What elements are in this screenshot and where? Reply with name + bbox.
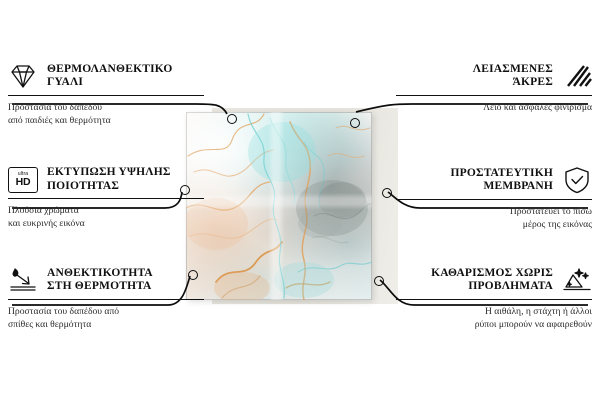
feature-title: ΚΑΘΑΡΙΣΜΟΣ ΧΩΡΙΣ ΠΡΟΒΛΗΜΑΤΑ bbox=[431, 267, 553, 294]
feature-heat-resistant-glass: ΘΕΡΜΟΛΑΝΘΕΚΤΙΚΟ ΓΥΑΛΙ Προστασία του δαπέ… bbox=[8, 62, 204, 127]
ultra-hd-icon: ultra HD bbox=[8, 167, 38, 193]
feature-desc-line2: από παιδιές και θερμότητα bbox=[8, 115, 204, 127]
feature-title: ΕΚΤΥΠΩΣΗ ΥΨΗΛΗΣ ΠΟΙΟΤΗΤΑΣ bbox=[47, 166, 171, 193]
feature-desc-line2: και ευκρινής εικόνα bbox=[8, 218, 204, 230]
feature-header: ΚΑΘΑΡΙΣΜΟΣ ΧΩΡΙΣ ΠΡΟΒΛΗΜΑΤΑ bbox=[396, 266, 592, 294]
divider bbox=[396, 95, 592, 96]
feature-desc-line1: Προστασία του δαπέδου από bbox=[8, 306, 204, 318]
feature-desc-line1: Λείο και ασφαλές φινίρισμα bbox=[396, 102, 592, 114]
feature-title: ΘΕΡΜΟΛΑΝΘΕΚΤΙΚΟ ΓΥΑΛΙ bbox=[47, 63, 173, 90]
easy-cleaning-icon bbox=[562, 266, 592, 294]
feature-high-quality-print: ultra HD ΕΚΤΥΠΩΣΗ ΥΨΗΛΗΣ ΠΟΙΟΤΗΤΑΣ Πλούσ… bbox=[8, 166, 204, 230]
divider bbox=[8, 198, 204, 199]
marble-pattern bbox=[186, 112, 372, 300]
feature-desc-line1: Προστατεύει το πίσω bbox=[396, 206, 592, 218]
feature-desc-line1: Προστασία του δαπέδου bbox=[8, 102, 204, 114]
feature-header: ΑΝΘΕΚΤΙΚΟΤΗΤΑ ΣΤΗ ΘΕΡΜΟΤΗΤΑ bbox=[8, 266, 204, 294]
feature-polished-edges: ΛΕΙΑΣΜΕΝΕΣ ΆΚΡΕΣ Λείο και ασφαλές φινίρι… bbox=[396, 62, 592, 115]
feature-title: ΠΡΟΣΤΑΤΕΥΤΙΚΗ ΜΕΜΒΡΑΝΗ bbox=[451, 167, 553, 194]
divider bbox=[8, 299, 204, 300]
feature-heat-durability: ΑΝΘΕΚΤΙΚΟΤΗΤΑ ΣΤΗ ΘΕΡΜΟΤΗΤΑ Προστασία το… bbox=[8, 266, 204, 331]
hd-label: HD bbox=[16, 177, 31, 188]
product-image bbox=[186, 112, 400, 300]
hotspot-top-right[interactable] bbox=[350, 118, 360, 128]
polished-edges-icon bbox=[562, 62, 592, 90]
glass-panel bbox=[186, 112, 372, 300]
feature-header: ultra HD ΕΚΤΥΠΩΣΗ ΥΨΗΛΗΣ ΠΟΙΟΤΗΤΑΣ bbox=[8, 166, 204, 193]
heat-resistance-icon bbox=[8, 266, 38, 294]
feature-desc-line1: Η αιθάλη, η στάχτη ή άλλοι bbox=[396, 306, 592, 318]
feature-title: ΑΝΘΕΚΤΙΚΟΤΗΤΑ ΣΤΗ ΘΕΡΜΟΤΗΤΑ bbox=[47, 267, 153, 294]
feature-desc-line2: μέρος της εικόνας bbox=[396, 219, 592, 231]
feature-title: ΛΕΙΑΣΜΕΝΕΣ ΆΚΡΕΣ bbox=[473, 63, 553, 90]
feature-easy-cleaning: ΚΑΘΑΡΙΣΜΟΣ ΧΩΡΙΣ ΠΡΟΒΛΗΜΑΤΑ Η αιθάλη, η … bbox=[396, 266, 592, 331]
hotspot-mid-right[interactable] bbox=[382, 188, 392, 198]
divider bbox=[8, 95, 204, 96]
diamond-icon bbox=[8, 62, 38, 90]
feature-desc-line2: σπίθες και θερμότητα bbox=[8, 319, 204, 331]
divider bbox=[396, 299, 592, 300]
divider bbox=[396, 199, 592, 200]
hotspot-top-left[interactable] bbox=[227, 114, 237, 124]
hotspot-bottom-right[interactable] bbox=[374, 276, 384, 286]
feature-header: ΠΡΟΣΤΑΤΕΥΤΙΚΗ ΜΕΜΒΡΑΝΗ bbox=[396, 166, 592, 194]
infographic-stage: ΘΕΡΜΟΛΑΝΘΕΚΤΙΚΟ ΓΥΑΛΙ Προστασία του δαπέ… bbox=[0, 0, 600, 400]
feature-protective-membrane: ΠΡΟΣΤΑΤΕΥΤΙΚΗ ΜΕΜΒΡΑΝΗ Προστατεύει το πί… bbox=[396, 166, 592, 231]
feature-header: ΛΕΙΑΣΜΕΝΕΣ ΆΚΡΕΣ bbox=[396, 62, 592, 90]
shield-check-icon bbox=[562, 166, 592, 194]
feature-desc-line2: ρύποι μπορούν να αφαιρεθούν bbox=[396, 319, 592, 331]
feature-header: ΘΕΡΜΟΛΑΝΘΕΚΤΙΚΟ ΓΥΑΛΙ bbox=[8, 62, 204, 90]
feature-desc-line1: Πλούσια χρώματα bbox=[8, 205, 204, 217]
